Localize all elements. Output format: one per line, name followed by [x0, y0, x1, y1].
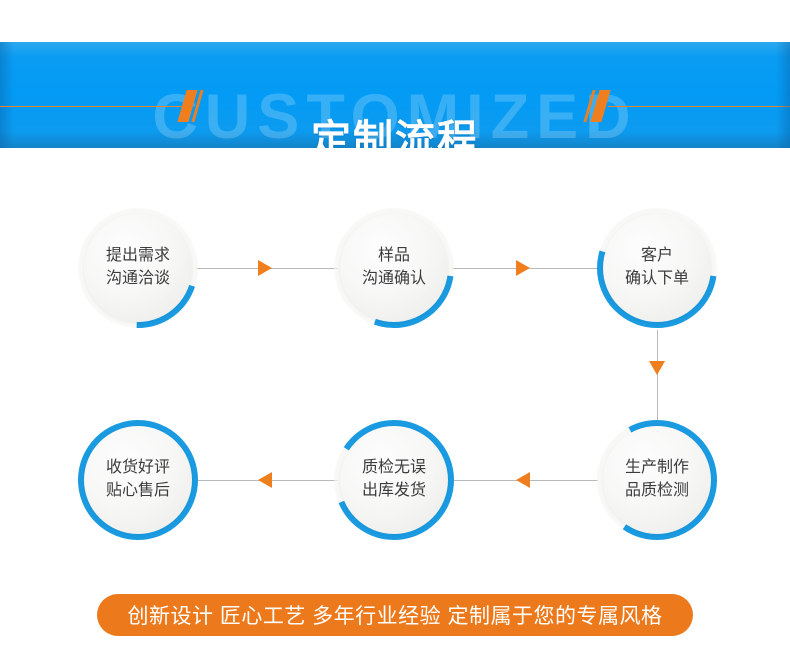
- step-6-label-line2: 贴心售后: [106, 480, 170, 503]
- footer-slogan-pill: 创新设计 匠心工艺 多年行业经验 定制属于您的专属风格: [97, 594, 693, 636]
- flow-step-5[interactable]: 质检无误 出库发货: [334, 420, 454, 540]
- connector-3-4: [657, 330, 658, 430]
- step-2-label-line1: 样品: [378, 245, 410, 268]
- header-rule-right: [608, 106, 790, 107]
- header-banner: CUSTOMIZED 定制流程: [0, 42, 790, 148]
- slash-ornament-right: [586, 90, 608, 122]
- arrow-step2-to-step3: [516, 260, 530, 276]
- slash-ornament-left: [182, 90, 204, 122]
- step-5-disc: 质检无误 出库发货: [340, 426, 448, 534]
- connector-5-6: [196, 480, 338, 481]
- step-5-label-line2: 出库发货: [362, 480, 426, 503]
- step-4-disc: 生产制作 品质检测: [603, 426, 711, 534]
- arrow-step3-to-step4: [649, 361, 665, 375]
- step-6-disc: 收货好评 贴心售后: [84, 426, 192, 534]
- arrow-step4-to-step5: [516, 472, 530, 488]
- flow-step-6[interactable]: 收货好评 贴心售后: [78, 420, 198, 540]
- step-1-label-line1: 提出需求: [106, 245, 170, 268]
- step-2-disc: 样品 沟通确认: [340, 214, 448, 322]
- step-3-label-line1: 客户: [641, 245, 673, 268]
- step-3-label-line2: 确认下单: [625, 268, 689, 291]
- step-4-label-line2: 品质检测: [625, 480, 689, 503]
- flow-step-2[interactable]: 样品 沟通确认: [334, 208, 454, 328]
- step-5-label-line1: 质检无误: [362, 457, 426, 480]
- flow-step-1[interactable]: 提出需求 沟通洽谈: [78, 208, 198, 328]
- step-1-label-line2: 沟通洽谈: [106, 268, 170, 291]
- footer-slogan-text: 创新设计 匠心工艺 多年行业经验 定制属于您的专属风格: [127, 600, 662, 630]
- connector-1-2: [196, 268, 338, 269]
- step-6-label-line1: 收货好评: [106, 457, 170, 480]
- flow-step-4[interactable]: 生产制作 品质检测: [597, 420, 717, 540]
- connector-4-5: [452, 480, 598, 481]
- step-1-disc: 提出需求 沟通洽谈: [84, 214, 192, 322]
- header-rule-left: [0, 106, 182, 107]
- page-title: 定制流程: [0, 120, 790, 148]
- step-2-label-line2: 沟通确认: [362, 268, 426, 291]
- arrow-step5-to-step6: [258, 472, 272, 488]
- step-3-disc: 客户 确认下单: [603, 214, 711, 322]
- step-4-label-line1: 生产制作: [625, 457, 689, 480]
- connector-2-3: [452, 268, 598, 269]
- arrow-step1-to-step2: [258, 260, 272, 276]
- flow-step-3[interactable]: 客户 确认下单: [597, 208, 717, 328]
